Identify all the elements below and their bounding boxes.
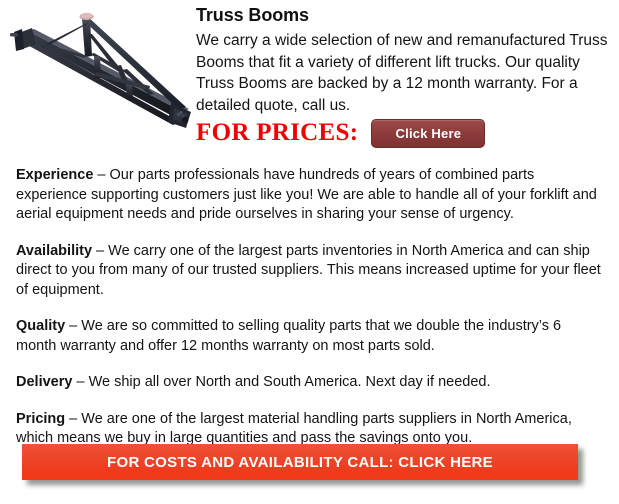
feature-dash: – bbox=[93, 167, 109, 183]
feature-term: Experience bbox=[16, 167, 93, 183]
prices-call-to-action: FOR PRICES: Click Here bbox=[196, 118, 485, 148]
feature-term: Delivery bbox=[16, 374, 72, 390]
product-copy: Truss Booms We carry a wide selection of… bbox=[196, 4, 616, 116]
truss-boom-product-image bbox=[8, 4, 194, 130]
feature-text: We ship all over North and South America… bbox=[89, 374, 491, 390]
feature-term: Pricing bbox=[16, 411, 65, 427]
feature-dash: – bbox=[92, 243, 108, 259]
feature-term: Availability bbox=[16, 243, 92, 259]
feature-pricing: Pricing – We are one of the largest mate… bbox=[16, 410, 604, 449]
feature-delivery: Delivery – We ship all over North and So… bbox=[16, 373, 604, 393]
feature-text: We are one of the largest material handl… bbox=[16, 411, 572, 447]
feature-dash: – bbox=[65, 411, 81, 427]
page-title: Truss Booms bbox=[196, 4, 616, 26]
feature-text: We are so committed to selling quality p… bbox=[16, 318, 561, 354]
feature-quality: Quality – We are so committed to selling… bbox=[16, 317, 604, 356]
features-list: Experience – Our parts professionals hav… bbox=[16, 166, 604, 449]
product-description: We carry a wide selection of new and rem… bbox=[196, 30, 608, 116]
feature-term: Quality bbox=[16, 318, 65, 334]
click-here-button[interactable]: Click Here bbox=[371, 119, 485, 148]
for-prices-label: FOR PRICES: bbox=[196, 118, 358, 148]
feature-dash: – bbox=[65, 318, 81, 334]
feature-dash: – bbox=[72, 374, 88, 390]
feature-availability: Availability – We carry one of the large… bbox=[16, 242, 604, 301]
costs-availability-cta-banner[interactable]: FOR COSTS AND AVAILABILITY CALL: CLICK H… bbox=[22, 444, 578, 480]
feature-experience: Experience – Our parts professionals hav… bbox=[16, 166, 604, 225]
product-header: Truss Booms We carry a wide selection of… bbox=[0, 0, 619, 160]
